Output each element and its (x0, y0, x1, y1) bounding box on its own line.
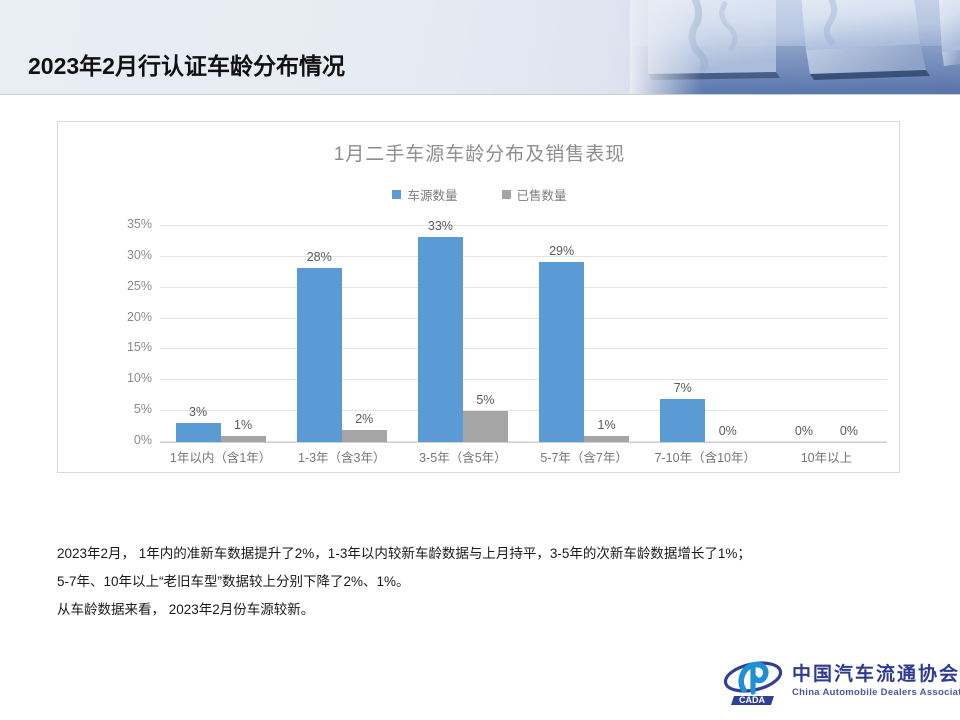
bar-value-label: 2% (355, 412, 373, 426)
ytick-label: 5% (104, 402, 152, 416)
x-axis-label-spacer (104, 447, 160, 466)
ytick-label: 25% (104, 279, 152, 293)
header-divider (0, 94, 960, 95)
bar-value-label: 5% (476, 393, 494, 407)
bar-primary[interactable]: 28% (297, 268, 342, 442)
organization-logo: CADA 中国汽车流通协会 China Automobile Dealers A… (722, 652, 947, 710)
ytick-label: 10% (104, 371, 152, 385)
bar-primary[interactable]: 3% (176, 423, 221, 442)
bar-value-label: 33% (428, 219, 453, 233)
cada-swirl-emblem-icon: CADA (722, 656, 784, 706)
bar-value-label: 29% (549, 244, 574, 258)
ytick-label: 20% (104, 310, 152, 324)
bar-secondary[interactable]: 2% (342, 430, 387, 442)
bar-value-label: 7% (674, 381, 692, 395)
chart-legend: 车源数量 已售数量 (58, 185, 901, 204)
commentary-block: 2023年2月， 1年内的准新车数据提升了2%，1-3年以内较新车龄数据与上月持… (57, 540, 907, 624)
blue-cubes-world-map-decoration (630, 0, 960, 95)
legend-swatch-primary (392, 190, 401, 199)
logo-wordmark: 中国汽车流通协会 China Automobile Dealers Associ… (792, 664, 960, 699)
bar-secondary[interactable]: 5% (463, 411, 508, 442)
bar-group: 28% 2% (281, 225, 402, 442)
bar-value-label: 3% (189, 405, 207, 419)
legend-label-primary: 车源数量 (407, 185, 457, 204)
bar-value-label: 1% (234, 418, 252, 432)
ytick-label: 15% (104, 340, 152, 354)
slide-header: 2023年2月行认证车龄分布情况 (0, 0, 960, 95)
bar-group: 3% 1% (160, 225, 281, 442)
x-axis-label: 3-5年（含5年） (402, 447, 523, 466)
bar-groups: 3% 1% 28% 2% 33% 5% (160, 225, 887, 442)
ytick-label: 30% (104, 248, 152, 262)
legend-label-secondary: 已售数量 (517, 185, 567, 204)
bar-value-label: 0% (719, 424, 737, 438)
bar-group: 29% 1% (524, 225, 645, 442)
x-axis-label: 1-3年（含3年） (281, 447, 402, 466)
bar-primary[interactable]: 7% (660, 399, 705, 442)
logo-english-name: China Automobile Dealers Association (792, 686, 960, 699)
bar-primary[interactable]: 29% (539, 262, 584, 442)
page-title: 2023年2月行认证车龄分布情况 (28, 47, 345, 81)
bar-value-label: 28% (307, 250, 332, 264)
plot-area: 0% 5% 10% 15% 20% 25% 30% 35% 3% 1% (104, 225, 887, 442)
ytick-label: 35% (104, 217, 152, 231)
logo-chinese-name: 中国汽车流通协会 (792, 664, 960, 686)
bar-group: 7% 0% (645, 225, 766, 442)
legend-swatch-secondary (502, 190, 511, 199)
chart-title: 1月二手车源车龄分布及销售表现 (58, 139, 901, 166)
bar-value-label: 1% (598, 418, 616, 432)
bar-group: 33% 5% (402, 225, 523, 442)
commentary-line: 5-7年、10年以上“老旧车型”数据较上分别下降了2%、1%。 (57, 568, 907, 596)
bar-value-label: 0% (840, 424, 858, 438)
legend-entry-secondary[interactable]: 已售数量 (502, 185, 567, 204)
bar-primary[interactable]: 33% (418, 237, 463, 442)
x-axis-label: 1年以内（含1年） (160, 447, 281, 466)
bar-group: 0% 0% (766, 225, 887, 442)
emblem-text: CADA (739, 695, 765, 705)
chart-card: 1月二手车源车龄分布及销售表现 车源数量 已售数量 0% 5% 10% 15% … (57, 121, 900, 473)
x-axis-label: 7-10年（含10年） (645, 447, 766, 466)
x-axis-labels: 1年以内（含1年） 1-3年（含3年） 3-5年（含5年） 5-7年（含7年） … (104, 447, 887, 466)
commentary-line: 2023年2月， 1年内的准新车数据提升了2%，1-3年以内较新车龄数据与上月持… (57, 540, 907, 568)
legend-entry-primary[interactable]: 车源数量 (392, 185, 457, 204)
commentary-line: 从车龄数据来看， 2023年2月份车源较新。 (57, 596, 907, 624)
ytick-label: 0% (104, 433, 152, 447)
x-axis-label: 5-7年（含7年） (524, 447, 645, 466)
bar-value-label: 0% (795, 424, 813, 438)
x-axis-label: 10年以上 (766, 447, 887, 466)
x-axis-line (160, 442, 887, 443)
